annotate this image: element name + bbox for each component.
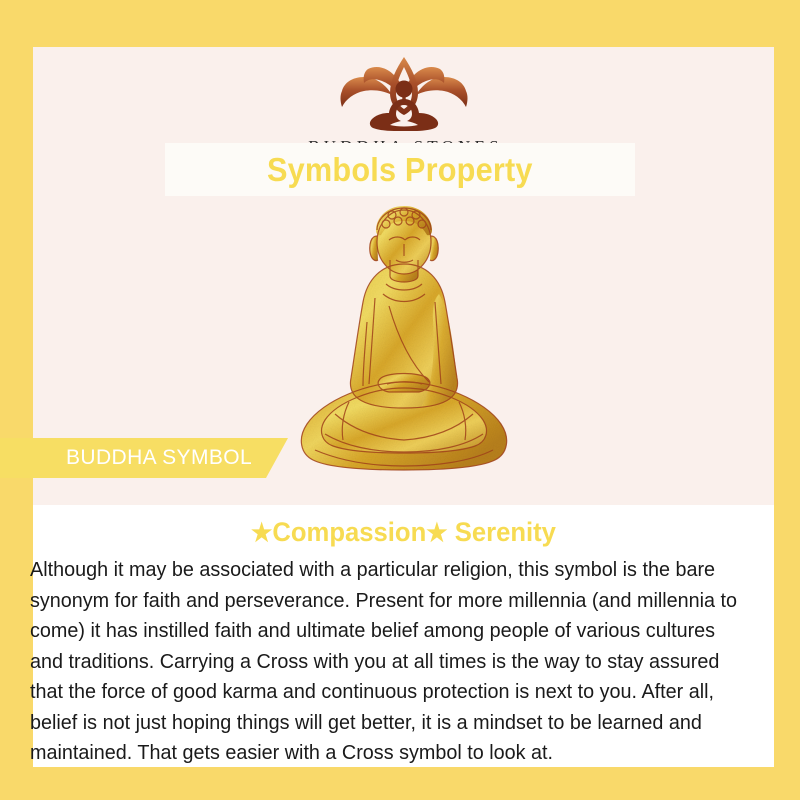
title-banner: Symbols Property [165,143,635,196]
promo-banner-page: BUDDHA STONES Symbols Property [0,0,800,800]
headline-serenity: Serenity [455,517,556,547]
section-ribbon: BUDDHA SYMBOL [0,438,288,478]
frame-top-band [0,0,800,44]
star-icon-right: ★ [426,519,447,547]
brand-logo: BUDDHA STONES [33,47,774,157]
buddha-statue-image [289,202,519,492]
star-icon-left: ★ [251,519,272,547]
frame-left-border [0,0,30,800]
frame-bottom-border [0,770,800,800]
lotus-meditation-icon [318,51,490,135]
description-paragraph: Although it may be associated with a par… [30,555,749,769]
frame-right-border [774,0,800,800]
content-canvas: BUDDHA STONES Symbols Property [33,47,774,767]
headline-compassion: Compassion [272,517,426,547]
ribbon-label: BUDDHA SYMBOL [0,446,252,470]
page-title: Symbols Property [267,151,533,189]
section-headline: ★Compassion★ Serenity [52,517,756,548]
